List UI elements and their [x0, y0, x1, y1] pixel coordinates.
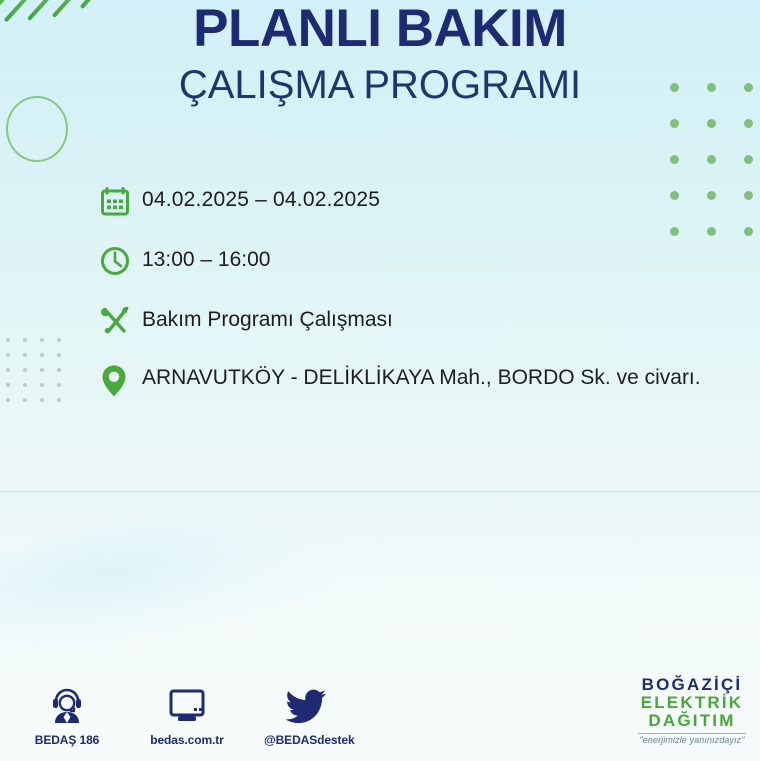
contact-website[interactable]: bedas.com.tr — [144, 683, 230, 747]
poster-canvas: PLANLI BAKIM ÇALIŞMA PROGRAMI 04.02.2025… — [0, 0, 760, 761]
brand-divider — [638, 733, 746, 734]
detail-text-work-type: Bakım Programı Çalışması — [142, 300, 738, 334]
page-subtitle: ÇALIŞMA PROGRAMI — [0, 55, 760, 105]
twitter-bird-icon — [264, 683, 350, 727]
contact-phone-label: BEDAŞ 186 — [24, 733, 110, 747]
tools-icon — [98, 300, 142, 342]
detail-row-location: ARNAVUTKÖY - DELİKLİKAYA Mah., BORDO Sk.… — [98, 360, 738, 402]
calendar-icon — [98, 180, 142, 222]
call-center-agent-icon — [24, 683, 110, 727]
contact-twitter[interactable]: @BEDASdestek — [264, 683, 350, 747]
monitor-icon — [144, 683, 230, 727]
detail-row-date: 04.02.2025 – 04.02.2025 — [98, 180, 738, 222]
contact-twitter-label: @BEDASdestek — [264, 733, 350, 747]
detail-text-date: 04.02.2025 – 04.02.2025 — [142, 180, 738, 214]
contact-website-label: bedas.com.tr — [144, 733, 230, 747]
outage-details-list: 04.02.2025 – 04.02.2025 13:00 – 16:00 — [98, 180, 738, 420]
footer-contacts: BEDAŞ 186 bedas.com.tr @BEDASdestek — [24, 683, 350, 747]
detail-row-work-type: Bakım Programı Çalışması — [98, 300, 738, 342]
background-divider — [0, 491, 760, 492]
contact-phone[interactable]: BEDAŞ 186 — [24, 683, 110, 747]
circle-outline-decoration — [6, 96, 68, 162]
brand-line-dagitim: DAĞITIM — [638, 712, 746, 730]
poster-header: PLANLI BAKIM ÇALIŞMA PROGRAMI — [0, 0, 760, 105]
dot-grid-left-decoration — [6, 338, 66, 408]
clock-icon — [98, 240, 142, 282]
detail-text-location: ARNAVUTKÖY - DELİKLİKAYA Mah., BORDO Sk.… — [142, 360, 738, 392]
brand-line-elektrik: ELEKTRİK — [638, 694, 746, 712]
page-title: PLANLI BAKIM — [0, 0, 760, 55]
bedas-logo: BOĞAZİÇİ ELEKTRİK DAĞITIM "enerjimizle y… — [638, 676, 746, 745]
detail-text-time: 13:00 – 16:00 — [142, 240, 738, 274]
brand-tagline: "enerjimizle yanınızdayız" — [638, 736, 746, 745]
location-pin-icon — [98, 360, 142, 402]
background-swoosh — [0, 491, 366, 668]
brand-line-bogazici: BOĞAZİÇİ — [638, 676, 746, 694]
detail-row-time: 13:00 – 16:00 — [98, 240, 738, 282]
